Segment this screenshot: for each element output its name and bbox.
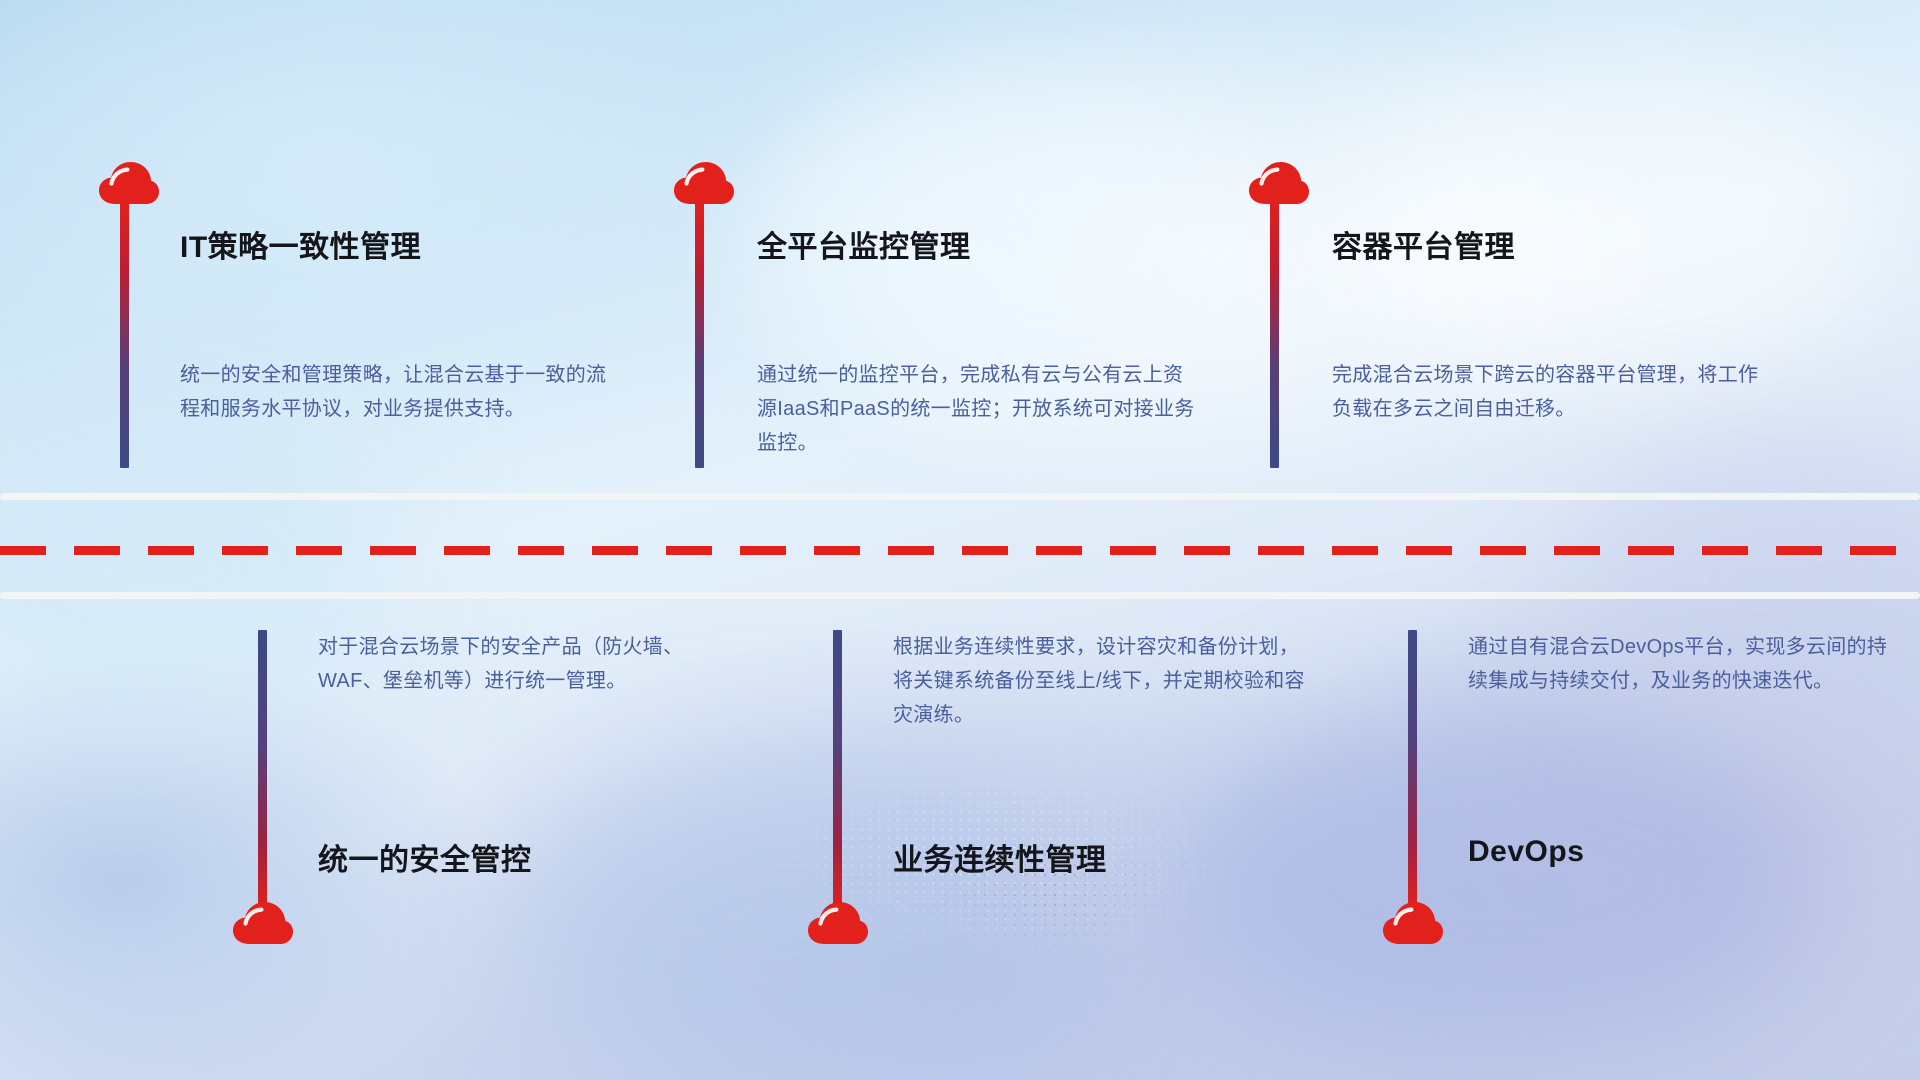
panel-body: 对于混合云场景下的安全产品（防火墙、WAF、堡垒机等）进行统一管理。 bbox=[318, 630, 738, 698]
background-blob bbox=[520, 760, 1080, 1080]
panel-title: DevOps bbox=[1468, 835, 1584, 869]
background-blob bbox=[1180, 700, 1820, 1060]
cloud-icon bbox=[98, 160, 160, 206]
divider-rule-bottom bbox=[0, 592, 1920, 599]
cloud-icon bbox=[1382, 900, 1444, 946]
panel-title: 统一的安全管控 bbox=[318, 835, 532, 879]
panel-body: 根据业务连续性要求，设计容灾和备份计划，将关键系统备份至线上/线下，并定期校验和… bbox=[893, 630, 1313, 732]
panel-body: 统一的安全和管理策略，让混合云基于一致的流程和服务水平协议，对业务提供支持。 bbox=[180, 358, 610, 426]
dot-texture-red bbox=[840, 780, 1260, 1000]
panel-body: 通过统一的监控平台，完成私有云与公有云上资源IaaS和PaaS的统一监控；开放系… bbox=[757, 358, 1197, 460]
panel-body: 完成混合云场景下跨云的容器平台管理，将工作负载在多云之间自由迁移。 bbox=[1332, 358, 1762, 426]
panel-title: 业务连续性管理 bbox=[893, 835, 1107, 879]
panel-title: 全平台监控管理 bbox=[757, 222, 971, 266]
pin-stem bbox=[695, 198, 704, 468]
divider-dashed-line bbox=[0, 546, 1920, 555]
cloud-icon bbox=[807, 900, 869, 946]
panel-body: 通过自有混合云DevOps平台，实现多云间的持续集成与持续交付，及业务的快速迭代… bbox=[1468, 630, 1888, 698]
pin-stem bbox=[1270, 198, 1279, 468]
pin-stem bbox=[120, 198, 129, 468]
infographic-canvas: IT策略一致性管理 统一的安全和管理策略，让混合云基于一致的流程和服务水平协议，… bbox=[0, 0, 1920, 1080]
cloud-icon bbox=[673, 160, 735, 206]
cloud-icon bbox=[1248, 160, 1310, 206]
pin-stem bbox=[833, 630, 842, 910]
pin-stem bbox=[1408, 630, 1417, 910]
cloud-icon bbox=[232, 900, 294, 946]
panel-title: 容器平台管理 bbox=[1332, 222, 1515, 266]
divider-rule-top bbox=[0, 493, 1920, 500]
panel-title: IT策略一致性管理 bbox=[180, 222, 421, 266]
pin-stem bbox=[258, 630, 267, 910]
